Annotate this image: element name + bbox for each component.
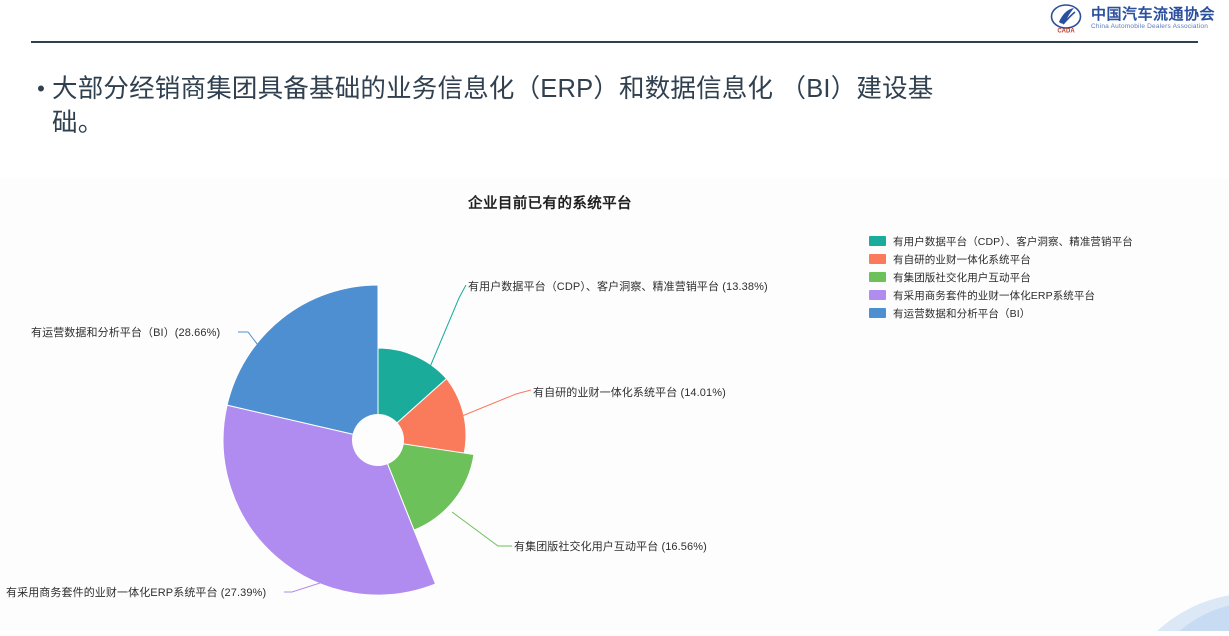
chart-panel: 企业目前已有的系统平台 有用户数据平台（CDP）、客户洞察、精准营销平台 有自研… [0,178,1229,631]
pie-label-erp: 有采用商务套件的业财一体化ERP系统平台 (27.39%) [6,584,266,600]
pie-label-cdp: 有用户数据平台（CDP）、客户洞察、精准营销平台 (13.38%) [468,278,768,294]
header-divider [31,41,1198,43]
pie-svg [0,178,1229,631]
pie-label-social: 有集团版社交化用户互动平台 (16.56%) [514,538,707,554]
organization-logo: CADA 中国汽车流通协会 China Automobile Dealers A… [1050,4,1215,34]
pie-donut-hole [352,414,404,466]
logo-english-name: China Automobile Dealers Association [1091,24,1215,31]
bullet-text: 大部分经销商集团具备基础的业务信息化（ERP）和数据信息化 （BI）建设基 础。 [52,72,934,140]
bullet-marker: • [30,72,52,106]
cada-logo-icon: CADA [1050,4,1084,34]
pie-label-selfdev: 有自研的业财一体化系统平台 (14.01%) [533,384,726,400]
leader-line-erp [284,583,320,592]
svg-text:CADA: CADA [1057,28,1075,34]
pie-chart: 有用户数据平台（CDP）、客户洞察、精准营销平台 (13.38%) 有运营数据和… [0,178,1229,631]
logo-text-block: 中国汽车流通协会 China Automobile Dealers Associ… [1091,7,1215,31]
slide-header: CADA 中国汽车流通协会 China Automobile Dealers A… [0,0,1229,42]
pie-label-bi: 有运营数据和分析平台（BI）(28.66%) [31,324,220,340]
leader-line-social [452,512,512,546]
logo-chinese-name: 中国汽车流通协会 [1091,7,1215,22]
leader-line-cdp [427,285,466,374]
leader-line-selfdev [462,390,531,416]
bullet-row: • 大部分经销商集团具备基础的业务信息化（ERP）和数据信息化 （BI）建设基 … [30,72,1210,140]
bullet-block: • 大部分经销商集团具备基础的业务信息化（ERP）和数据信息化 （BI）建设基 … [30,72,1210,140]
